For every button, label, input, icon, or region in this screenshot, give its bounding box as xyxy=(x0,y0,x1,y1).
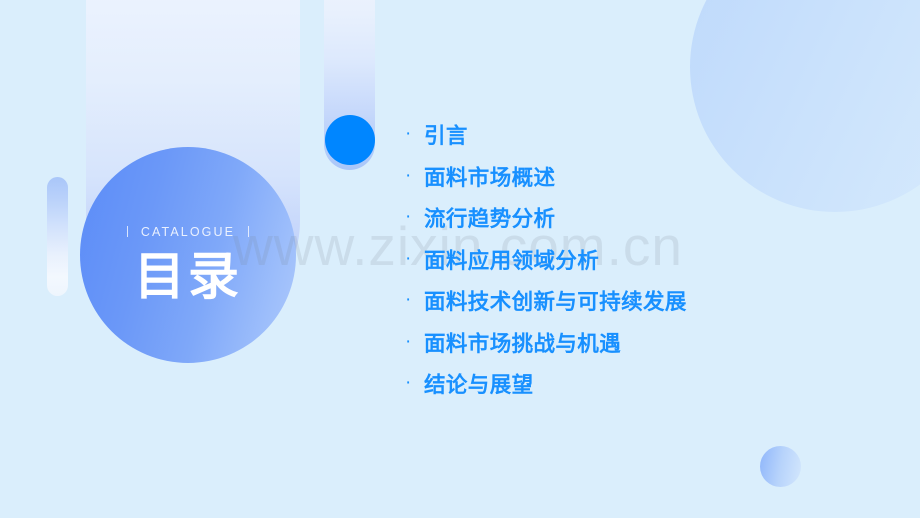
list-item[interactable]: · 面料应用领域分析 xyxy=(405,239,875,281)
bullet-icon: · xyxy=(405,290,424,309)
bullet-icon: · xyxy=(405,249,424,268)
toc-item-label: 引言 xyxy=(424,119,468,150)
bullet-icon: · xyxy=(405,207,424,226)
list-item[interactable]: · 面料市场挑战与机遇 xyxy=(405,322,875,364)
toc-item-label: 结论与展望 xyxy=(424,368,534,399)
list-item[interactable]: · 面料技术创新与可持续发展 xyxy=(405,280,875,322)
toc-item-label: 面料市场概述 xyxy=(424,161,555,192)
list-item[interactable]: · 面料市场概述 xyxy=(405,156,875,198)
bullet-icon: · xyxy=(405,124,424,143)
toc-item-label: 面料市场挑战与机遇 xyxy=(424,327,621,358)
accent-dot xyxy=(325,115,375,165)
catalogue-badge: CATALOGUE 目录 xyxy=(80,147,296,363)
list-item[interactable]: · 流行趋势分析 xyxy=(405,197,875,239)
list-item[interactable]: · 引言 xyxy=(405,114,875,156)
bullet-icon: · xyxy=(405,166,424,185)
catalogue-chinese-title: 目录 xyxy=(134,251,242,302)
catalogue-english-label: CATALOGUE xyxy=(141,225,235,239)
toc-item-label: 流行趋势分析 xyxy=(424,202,555,233)
toc-item-label: 面料应用领域分析 xyxy=(424,244,599,275)
tick-left-icon xyxy=(127,226,128,237)
presentation-slide: CATALOGUE 目录 www.zixin.com.cn · 引言 · 面料市… xyxy=(0,0,920,518)
list-item[interactable]: · 结论与展望 xyxy=(405,363,875,405)
decorative-pill-left xyxy=(47,177,68,296)
catalogue-label-row: CATALOGUE xyxy=(127,225,249,239)
bullet-icon: · xyxy=(405,373,424,392)
table-of-contents: · 引言 · 面料市场概述 · 流行趋势分析 · 面料应用领域分析 · 面料技术… xyxy=(405,114,875,405)
decorative-circle-bottom-right xyxy=(760,446,801,487)
toc-item-label: 面料技术创新与可持续发展 xyxy=(424,285,687,316)
bullet-icon: · xyxy=(405,332,424,351)
tick-right-icon xyxy=(248,226,249,237)
